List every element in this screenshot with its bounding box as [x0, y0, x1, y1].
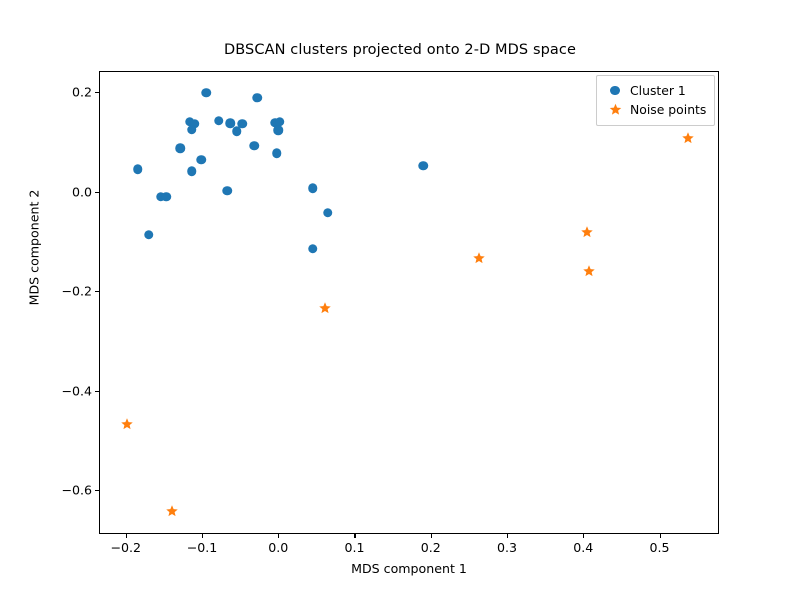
cluster-point-marker	[232, 127, 242, 137]
x-tick-label: 0.5	[650, 540, 670, 555]
x-tick-label: 0.4	[573, 540, 593, 555]
x-tick-mark	[202, 534, 203, 538]
cluster-point-marker	[202, 88, 212, 98]
x-tick-mark	[583, 534, 584, 538]
noise-point-marker	[120, 418, 133, 431]
matplotlib-figure: DBSCAN clusters projected onto 2-D MDS s…	[0, 0, 800, 600]
x-tick-mark	[126, 534, 127, 538]
cluster-point-marker	[162, 192, 172, 202]
y-tick-mark	[95, 92, 99, 93]
cluster-point-marker	[272, 149, 282, 159]
noise-point-marker	[582, 264, 595, 277]
cluster-point-marker	[197, 155, 207, 165]
cluster-point-marker	[308, 244, 318, 254]
noise-star-icon	[604, 103, 626, 116]
y-tick-mark	[95, 291, 99, 292]
y-tick-mark	[95, 490, 99, 491]
x-axis-label: MDS component 1	[99, 561, 719, 576]
noise-point-marker	[472, 252, 485, 265]
x-tick-label: 0.1	[344, 540, 364, 555]
cluster-point-marker	[419, 161, 429, 171]
cluster-point-marker	[249, 141, 259, 151]
noise-point-marker	[580, 225, 593, 238]
cluster-point-marker	[187, 125, 197, 135]
x-tick-mark	[507, 534, 508, 538]
x-tick-label: 0.2	[421, 540, 441, 555]
x-tick-label: −0.2	[110, 540, 141, 555]
noise-point-marker	[165, 505, 178, 518]
x-tick-label: −0.1	[187, 540, 218, 555]
legend-label-cluster: Cluster 1	[626, 83, 686, 98]
x-tick-mark	[660, 534, 661, 538]
legend-item-noise: Noise points	[604, 100, 707, 119]
x-tick-label: 0.3	[497, 540, 517, 555]
cluster-point-marker	[214, 116, 224, 126]
legend: Cluster 1 Noise points	[596, 75, 715, 126]
x-tick-label: 0.0	[268, 540, 288, 555]
page-title: DBSCAN clusters projected onto 2-D MDS s…	[0, 42, 800, 58]
plot-axes	[99, 71, 719, 534]
cluster-circle-icon	[604, 86, 626, 96]
y-tick-label: −0.2	[61, 284, 92, 299]
y-tick-mark	[95, 192, 99, 193]
x-tick-mark	[431, 534, 432, 538]
y-tick-mark	[95, 391, 99, 392]
y-tick-label: −0.6	[61, 483, 92, 498]
noise-point-marker	[318, 301, 331, 314]
cluster-point-marker	[133, 164, 143, 174]
y-tick-label: 0.0	[72, 184, 92, 199]
cluster-point-marker	[308, 183, 318, 193]
y-tick-label: 0.2	[72, 85, 92, 100]
y-axis-label: MDS component 2	[27, 108, 42, 388]
cluster-point-marker	[253, 93, 263, 103]
legend-label-noise: Noise points	[626, 102, 706, 117]
cluster-point-marker	[144, 230, 154, 240]
cluster-point-marker	[323, 208, 333, 218]
scatter-data-layer	[100, 72, 718, 533]
y-tick-label: −0.4	[61, 383, 92, 398]
cluster-point-marker	[274, 126, 284, 136]
cluster-point-marker	[176, 144, 186, 154]
cluster-point-marker	[223, 186, 233, 196]
x-tick-mark	[278, 534, 279, 538]
noise-point-marker	[681, 132, 694, 145]
legend-item-cluster: Cluster 1	[604, 81, 707, 100]
x-tick-mark	[354, 534, 355, 538]
cluster-point-marker	[187, 166, 197, 176]
